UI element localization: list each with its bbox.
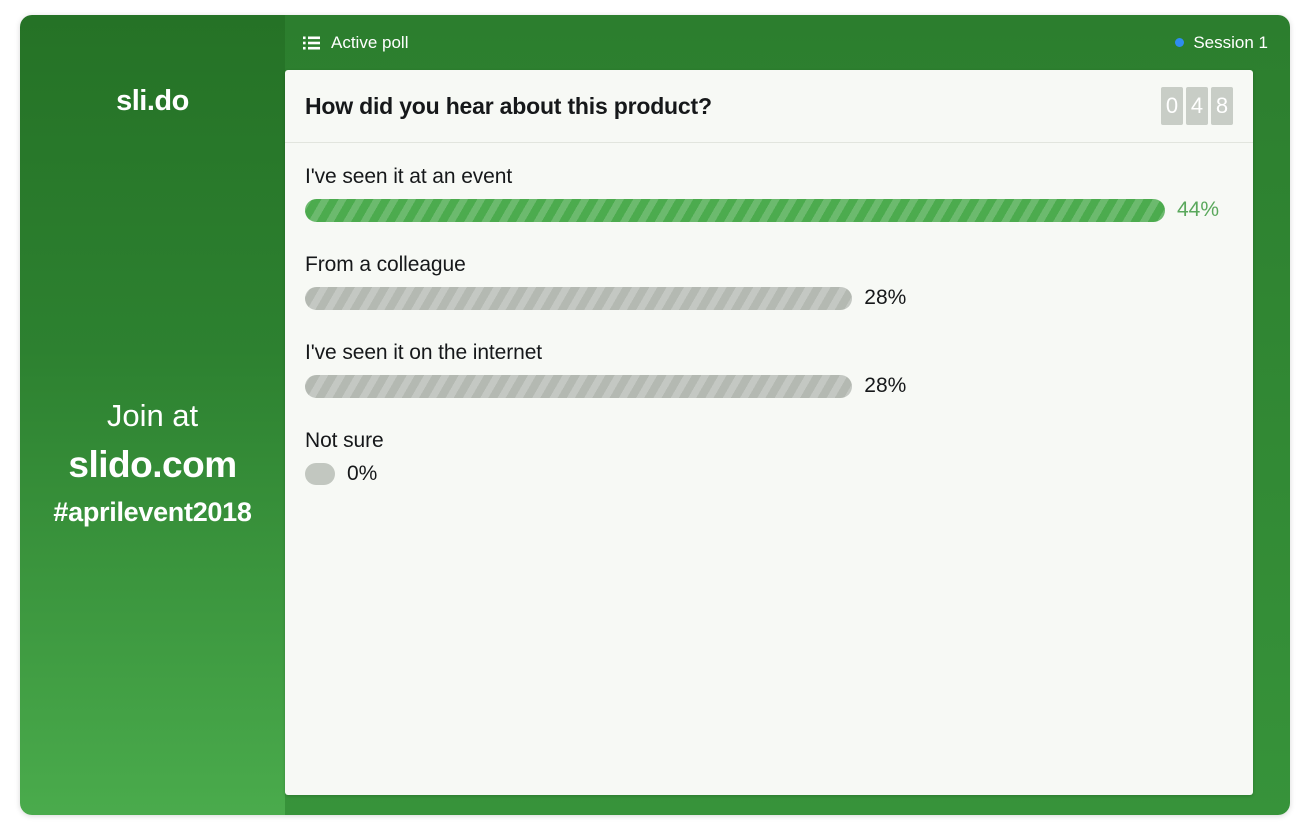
- vote-counter: 0 4 8: [1161, 87, 1233, 125]
- join-at-text: Join at: [20, 393, 285, 439]
- vote-digit: 8: [1211, 87, 1233, 125]
- result-percent: 28%: [864, 374, 906, 398]
- poll-question: How did you hear about this product?: [305, 93, 712, 120]
- option-result-row: 28%: [305, 374, 1233, 398]
- main-panel: Active poll Session 1 How did you hear a…: [285, 15, 1290, 815]
- poll-option: I've seen it on the internet 28%: [305, 341, 1233, 398]
- active-poll-indicator: Active poll: [303, 33, 408, 53]
- vote-digit: 0: [1161, 87, 1183, 125]
- result-bar: [305, 199, 1165, 222]
- option-result-row: 44%: [305, 198, 1233, 222]
- vote-digit: 4: [1186, 87, 1208, 125]
- join-instructions: Join at slido.com #aprilevent2018: [20, 393, 285, 533]
- slido-logo: sli.do: [20, 85, 285, 118]
- result-percent: 0%: [347, 462, 377, 486]
- option-label: From a colleague: [305, 253, 1233, 277]
- option-result-row: 0%: [305, 462, 1233, 486]
- result-bar: [305, 375, 852, 398]
- poll-option: Not sure 0%: [305, 429, 1233, 486]
- poll-card: How did you hear about this product? 0 4…: [285, 70, 1253, 795]
- sidebar: sli.do Join at slido.com #aprilevent2018: [20, 15, 285, 815]
- option-result-row: 28%: [305, 286, 1233, 310]
- slido-app-window: sli.do Join at slido.com #aprilevent2018: [20, 15, 1290, 815]
- session-status-dot: [1175, 38, 1184, 47]
- list-icon: [303, 36, 320, 50]
- event-hashtag: #aprilevent2018: [20, 491, 285, 533]
- result-percent: 44%: [1177, 198, 1219, 222]
- join-domain-text: slido.com: [20, 439, 285, 491]
- poll-header: How did you hear about this product? 0 4…: [285, 70, 1253, 143]
- poll-option: From a colleague 28%: [305, 253, 1233, 310]
- result-percent: 28%: [864, 286, 906, 310]
- top-bar: Active poll Session 1: [285, 15, 1290, 70]
- option-label: I've seen it at an event: [305, 165, 1233, 189]
- active-poll-label: Active poll: [331, 33, 408, 53]
- result-bar: [305, 463, 335, 485]
- option-label: I've seen it on the internet: [305, 341, 1233, 365]
- poll-option: I've seen it at an event 44%: [305, 165, 1233, 222]
- option-label: Not sure: [305, 429, 1233, 453]
- session-label: Session 1: [1193, 33, 1268, 53]
- session-indicator[interactable]: Session 1: [1175, 33, 1268, 53]
- result-bar: [305, 287, 852, 310]
- poll-options-list: I've seen it at an event 44% From a coll…: [285, 143, 1253, 486]
